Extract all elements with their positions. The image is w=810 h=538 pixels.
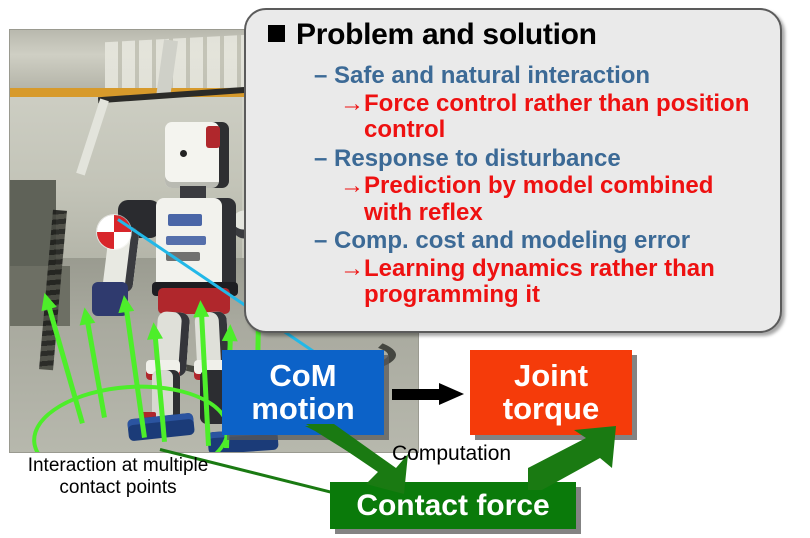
joint-torque-line2: torque	[503, 393, 599, 426]
bullet-topic-1: – Safe and natural interaction	[290, 62, 768, 90]
bullet-group-2: – Response to disturbance →Prediction by…	[290, 145, 768, 227]
joint-torque-box[interactable]: Joint torque	[470, 350, 632, 435]
bullet-solution-2: →Prediction by model combined with refle…	[290, 173, 768, 226]
center-of-mass-marker	[97, 215, 131, 249]
bullet-group-1: – Safe and natural interaction →Force co…	[290, 62, 768, 144]
robot-torso-logo	[168, 214, 202, 226]
square-bullet-icon	[268, 25, 285, 42]
photo-caption: Interaction at multiple contact points	[2, 455, 234, 499]
bullet-group-3: – Comp. cost and modeling error →Learnin…	[290, 227, 768, 309]
bullet-solution-3: →Learning dynamics rather than programmi…	[290, 256, 768, 309]
robot-torso-logo	[166, 236, 206, 245]
slide-canvas: Problem and solution – Safe and natural …	[0, 0, 810, 538]
bullet-solution-1: →Force control rather than position cont…	[290, 91, 768, 144]
callout-title: Problem and solution	[268, 18, 597, 52]
robot-camera-eye	[180, 150, 187, 157]
computation-label: Computation	[392, 442, 511, 466]
joint-torque-line1: Joint	[503, 360, 599, 393]
bullet-topic-2: – Response to disturbance	[290, 145, 768, 173]
bullet-topic-3: – Comp. cost and modeling error	[290, 227, 768, 255]
com-to-joint-arrow-icon	[392, 383, 464, 403]
com-motion-box[interactable]: CoM motion	[222, 350, 384, 435]
com-motion-line2: motion	[251, 393, 354, 426]
robot-head-marker	[206, 126, 220, 148]
contact-to-joint-arrow-icon	[520, 424, 630, 496]
bullet-list: – Safe and natural interaction →Force co…	[290, 62, 768, 310]
problem-solution-callout: Problem and solution – Safe and natural …	[244, 8, 782, 333]
callout-title-text: Problem and solution	[296, 18, 597, 51]
com-motion-line1: CoM	[251, 360, 354, 393]
